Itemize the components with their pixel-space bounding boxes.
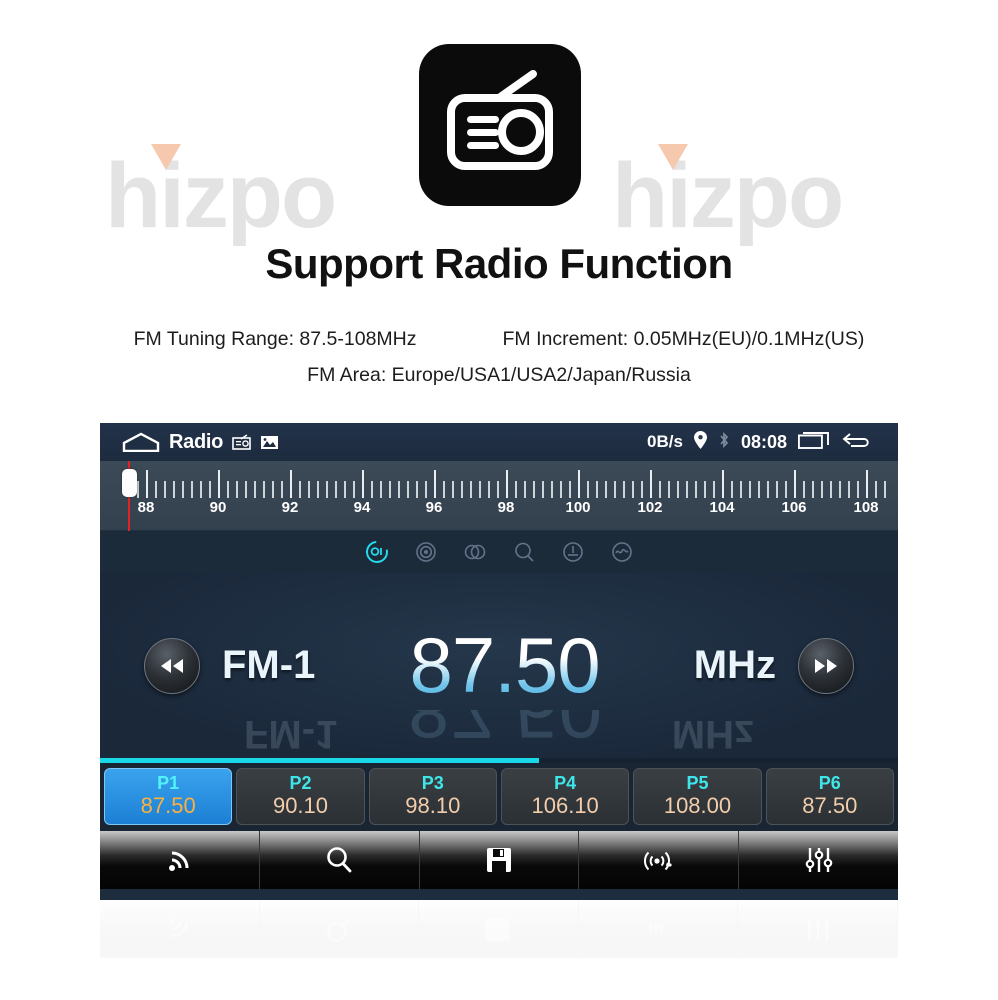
scale-tick (884, 481, 886, 498)
scale-tick (488, 481, 490, 498)
triangle-icon (151, 144, 181, 170)
scale-tick-label: 98 (498, 499, 515, 516)
scan-icon[interactable] (512, 540, 536, 564)
scale-tick (668, 481, 670, 498)
tuning-scale[interactable]: 889092949698100102104106108 (100, 461, 898, 531)
preset-value: 90.10 (273, 794, 328, 819)
scale-tick (146, 470, 148, 498)
band-reflection: FM-1 (244, 711, 337, 756)
device-screen: Radio (100, 423, 898, 900)
equalizer-icon[interactable] (739, 831, 898, 889)
scale-tick (866, 470, 868, 498)
tuner-display: FM-1 87.50 MHz FM-1 87.50 MHz (100, 573, 898, 758)
reflection-fade (100, 900, 898, 980)
scale-tick (425, 481, 427, 498)
page-root: hizpo hizpo Support Radio Function FM Tu… (0, 0, 998, 1000)
scale-tick (290, 470, 292, 498)
scale-tick (236, 481, 238, 498)
scale-tick (758, 481, 760, 498)
scale-tick (578, 470, 580, 498)
scale-tick (362, 470, 364, 498)
stereo-icon[interactable] (414, 540, 438, 564)
scale-tick (587, 481, 589, 498)
scale-ticks (128, 468, 884, 498)
scale-tick (551, 481, 553, 498)
preset-button-p6[interactable]: P687.50 (766, 768, 894, 825)
preset-label: P4 (554, 774, 576, 793)
scale-tick (155, 481, 157, 498)
scale-tick (839, 481, 841, 498)
preset-label: P5 (686, 774, 708, 793)
scale-tick (272, 481, 274, 498)
scale-tick-label: 108 (853, 499, 878, 516)
watermark-right: hizpo (612, 150, 842, 242)
scale-tick (326, 481, 328, 498)
local-icon[interactable] (463, 540, 487, 564)
app-title: Radio (169, 431, 223, 454)
scale-tick (281, 481, 283, 498)
scale-tick (416, 481, 418, 498)
scale-tick-label: 102 (637, 499, 662, 516)
scale-tick (506, 470, 508, 498)
scale-tick (137, 481, 139, 498)
scale-tick-label: 88 (138, 499, 155, 516)
preset-value: 106.10 (532, 794, 599, 819)
scale-tick (452, 481, 454, 498)
search-icon[interactable] (260, 831, 420, 889)
device-reflection (100, 900, 898, 980)
scale-tick (848, 481, 850, 498)
scale-tick (434, 470, 436, 498)
scale-tick (173, 481, 175, 498)
scale-tick (398, 481, 400, 498)
data-rate-label: 0B/s (647, 432, 683, 452)
recents-icon[interactable] (798, 431, 831, 454)
scale-tick (749, 481, 751, 498)
preset-button-p3[interactable]: P398.10 (369, 768, 497, 825)
scale-tick (371, 481, 373, 498)
scale-tick (263, 481, 265, 498)
scale-tick (686, 481, 688, 498)
watermark-left: hizpo (105, 150, 335, 242)
save-icon[interactable] (420, 831, 580, 889)
scale-tick-label: 92 (282, 499, 299, 516)
scale-tick (605, 481, 607, 498)
display-reflection: FM-1 87.50 MHz (100, 710, 898, 756)
scale-tick (767, 481, 769, 498)
preset-button-p2[interactable]: P290.10 (236, 768, 364, 825)
scale-tick (650, 470, 652, 498)
bluetooth-icon (718, 431, 730, 454)
scale-tick (209, 481, 211, 498)
scale-tick (623, 481, 625, 498)
watermark-text: hizpo (105, 145, 335, 247)
scale-tick (677, 481, 679, 498)
scale-tick (785, 481, 787, 498)
bottom-toolbar (100, 831, 898, 889)
preset-button-p5[interactable]: P5108.00 (633, 768, 761, 825)
scale-tick (875, 481, 877, 498)
band-label: FM-1 (222, 643, 315, 688)
scale-tick (542, 481, 544, 498)
spec-list: FM Tuning Range: 87.5-108MHz FM Incremen… (0, 328, 998, 387)
preset-value: 108.00 (664, 794, 731, 819)
spec-area: FM Area: Europe/USA1/USA2/Japan/Russia (307, 364, 691, 386)
spec-tuning-range: FM Tuning Range: 87.5-108MHz (134, 328, 417, 351)
scale-tick (659, 481, 661, 498)
scale-tick (740, 481, 742, 498)
scale-tick (731, 481, 733, 498)
scale-tick (524, 481, 526, 498)
scale-labels: 889092949698100102104106108 (128, 499, 884, 521)
scale-tick (470, 481, 472, 498)
preset-value: 98.10 (405, 794, 460, 819)
scale-tick (245, 481, 247, 498)
clock-label: 08:08 (741, 432, 787, 453)
unit-label: MHz (694, 643, 776, 688)
scale-tick (254, 481, 256, 498)
scale-tick (704, 481, 706, 498)
preset-value: 87.50 (802, 794, 857, 819)
spec-increment: FM Increment: 0.05MHz(EU)/0.1MHz(US) (503, 328, 865, 351)
preset-value: 87.50 (141, 794, 196, 819)
scale-tick (830, 481, 832, 498)
radio-app-icon (419, 44, 581, 206)
scale-tick (569, 481, 571, 498)
home-icon[interactable] (122, 432, 160, 452)
scale-tick-label: 100 (565, 499, 590, 516)
rewind-icon[interactable] (144, 638, 200, 694)
scale-tick (227, 481, 229, 498)
scale-tick-label: 104 (709, 499, 734, 516)
bandwidth-icon[interactable] (561, 540, 585, 564)
scale-tick (812, 481, 814, 498)
scale-tick (821, 481, 823, 498)
fast-forward-icon[interactable] (798, 638, 854, 694)
scale-tick (389, 481, 391, 498)
scale-tick (317, 481, 319, 498)
scale-tick (380, 481, 382, 498)
scale-tick (533, 481, 535, 498)
radio-icon (232, 434, 251, 450)
scale-tick (614, 481, 616, 498)
scale-tick (776, 481, 778, 498)
rds-icon[interactable] (365, 540, 389, 564)
image-icon (260, 434, 279, 450)
scale-tick (479, 481, 481, 498)
scale-tick (722, 470, 724, 498)
scale-tick (200, 481, 202, 498)
watermark-text: hizpo (612, 145, 842, 247)
signal-icon[interactable] (100, 831, 260, 889)
scale-tick (353, 481, 355, 498)
scale-tick (641, 481, 643, 498)
scale-tick (695, 481, 697, 498)
unit-reflection: MHz (672, 711, 754, 756)
preset-button-p4[interactable]: P4106.10 (501, 768, 629, 825)
af-icon[interactable] (610, 540, 634, 564)
scale-tick (308, 481, 310, 498)
scale-tick (632, 481, 634, 498)
scale-tick (803, 481, 805, 498)
scale-tick (515, 481, 517, 498)
preset-button-p1[interactable]: P187.50 (104, 768, 232, 825)
frequency-reflection: 87.50 (337, 710, 671, 756)
back-arrow-icon[interactable] (842, 431, 872, 454)
scale-tick-label: 96 (426, 499, 443, 516)
scale-tick (164, 481, 166, 498)
preset-list: P187.50P290.10P398.10P4106.10P5108.00P68… (100, 763, 898, 831)
scale-tick (560, 481, 562, 498)
scale-tick (407, 481, 409, 498)
broadcast-icon[interactable] (579, 831, 739, 889)
scale-tick (857, 481, 859, 498)
scale-tick (497, 481, 499, 498)
scale-tick-label: 106 (781, 499, 806, 516)
scale-tick (344, 481, 346, 498)
page-title: Support Radio Function (0, 240, 998, 288)
scale-tick-label: 94 (354, 499, 371, 516)
scale-tick (443, 481, 445, 498)
function-icon-row (100, 531, 898, 573)
tuner-handle[interactable] (122, 469, 137, 497)
scale-tick (461, 481, 463, 498)
scale-tick (713, 481, 715, 498)
scale-tick (335, 481, 337, 498)
scale-tick (182, 481, 184, 498)
preset-label: P6 (819, 774, 841, 793)
preset-label: P2 (289, 774, 311, 793)
preset-label: P3 (422, 774, 444, 793)
triangle-icon (658, 144, 688, 170)
status-bar: Radio (100, 423, 898, 461)
scale-tick (218, 470, 220, 498)
preset-label: P1 (157, 774, 179, 793)
scale-tick (596, 481, 598, 498)
scale-tick (299, 481, 301, 498)
scale-tick (191, 481, 193, 498)
frequency-display: 87.50 (315, 620, 693, 711)
scale-tick (794, 470, 796, 498)
scale-tick-label: 90 (210, 499, 227, 516)
location-pin-icon (694, 431, 707, 454)
